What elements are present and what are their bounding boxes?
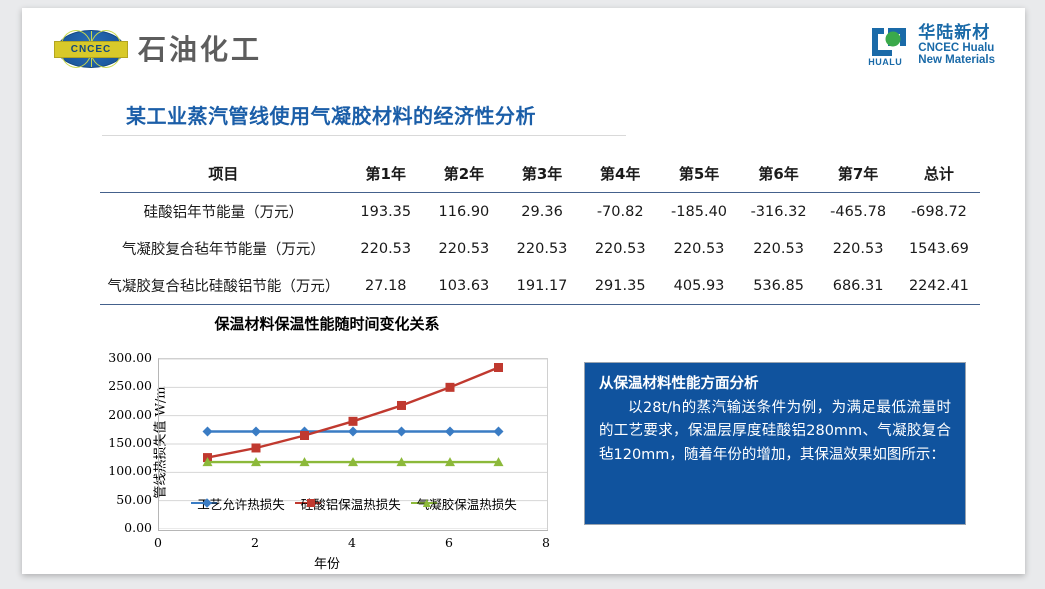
cell-2-5: 536.85	[739, 267, 819, 305]
row-label-2: 气凝胶复合毡比硅酸铝节能（万元）	[100, 267, 347, 305]
chart-legend: 工艺允许热损失硅酸铝保温热损失气凝胶保温热损失	[164, 491, 544, 515]
table-col-header-1: 第1年	[347, 154, 425, 193]
table-col-header-4: 第4年	[581, 154, 659, 193]
analysis-callout: 从保温材料性能方面分析 以28t/h的蒸汽输送条件为例，为满足最低流量时的工艺要…	[584, 362, 966, 525]
legend-label: 硅酸铝保温热损失	[301, 494, 401, 513]
cell-0-1: 116.90	[425, 193, 503, 231]
y-tick-label: 150.00	[92, 435, 152, 450]
table-col-header-8: 总计	[898, 154, 980, 193]
cell-0-0: 193.35	[347, 193, 425, 231]
table-col-header-6: 第6年	[739, 154, 819, 193]
table-col-header-5: 第5年	[659, 154, 739, 193]
legend-item: 硅酸铝保温热损失	[295, 494, 401, 513]
row-label-0: 硅酸铝年节能量（万元）	[100, 193, 347, 231]
x-tick-label: 8	[526, 535, 566, 550]
x-tick-label: 0	[138, 535, 178, 550]
cell-1-7: 1543.69	[898, 230, 980, 267]
row-label-1: 气凝胶复合毡年节能量（万元）	[100, 230, 347, 267]
legend-label: 气凝胶保温热损失	[417, 494, 517, 513]
cell-1-3: 220.53	[581, 230, 659, 267]
cncec-company-name: 石油化工	[138, 28, 262, 68]
cell-2-4: 405.93	[659, 267, 739, 305]
header-left-logo: CNCEC 石油化工	[54, 28, 262, 68]
legend-item: 工艺允许热损失	[191, 494, 285, 513]
table-row: 气凝胶复合毡比硅酸铝节能（万元） 27.18 103.63 191.17 291…	[100, 267, 980, 305]
hualu-text-block: 华陆新材 CNCEC Hualu New Materials	[918, 24, 995, 66]
title-divider	[102, 135, 626, 136]
y-tick-label: 0.00	[92, 520, 152, 535]
cell-0-7: -698.72	[898, 193, 980, 231]
table-row: 硅酸铝年节能量（万元） 193.35 116.90 29.36 -70.82 -…	[100, 193, 980, 231]
page-title: 某工业蒸汽管线使用气凝胶材料的经济性分析	[126, 100, 536, 129]
table-col-header-2: 第2年	[425, 154, 503, 193]
legend-item: 气凝胶保温热损失	[411, 494, 517, 513]
x-tick-label: 4	[332, 535, 372, 550]
cell-2-2: 191.17	[503, 267, 581, 305]
cell-2-0: 27.18	[347, 267, 425, 305]
table-col-header-0: 项目	[100, 154, 347, 193]
hualu-name-en-1: CNCEC Hualu	[918, 42, 995, 54]
cncec-globe-icon: CNCEC	[54, 29, 126, 67]
slide-canvas: CNCEC 石油化工 HUALU 华陆新材 CNCEC Hualu New Ma…	[22, 8, 1025, 574]
cell-0-6: -465.78	[818, 193, 898, 231]
chart-title: 保温材料保温性能随时间变化关系	[92, 313, 562, 334]
hualu-name-cn: 华陆新材	[918, 24, 995, 42]
x-tick-label: 6	[429, 535, 469, 550]
cell-1-0: 220.53	[347, 230, 425, 267]
y-tick-label: 200.00	[92, 407, 152, 422]
cell-1-1: 220.53	[425, 230, 503, 267]
table-row: 气凝胶复合毡年节能量（万元） 220.53 220.53 220.53 220.…	[100, 230, 980, 267]
cell-0-5: -316.32	[739, 193, 819, 231]
cell-2-6: 686.31	[818, 267, 898, 305]
y-tick-label: 250.00	[92, 378, 152, 393]
y-tick-label: 50.00	[92, 492, 152, 507]
cell-0-2: 29.36	[503, 193, 581, 231]
cell-0-3: -70.82	[581, 193, 659, 231]
chart-x-axis-label: 年份	[92, 553, 562, 572]
cell-1-4: 220.53	[659, 230, 739, 267]
cell-1-6: 220.53	[818, 230, 898, 267]
line-chart: 保温材料保温性能随时间变化关系 管线热损失值 W/m 0.0050.00100.…	[92, 313, 562, 553]
cell-2-3: 291.35	[581, 267, 659, 305]
legend-marker-square-icon	[307, 499, 315, 507]
cell-1-5: 220.53	[739, 230, 819, 267]
header-right-logo: HUALU 华陆新材 CNCEC Hualu New Materials	[868, 24, 995, 66]
y-tick-label: 300.00	[92, 350, 152, 365]
hualu-wordmark: HUALU	[868, 57, 902, 67]
chart-x-axis-line	[158, 530, 548, 531]
cell-0-4: -185.40	[659, 193, 739, 231]
callout-heading: 从保温材料性能方面分析	[599, 372, 951, 393]
x-tick-label: 2	[235, 535, 275, 550]
cncec-mark-text: CNCEC	[71, 44, 112, 55]
callout-body: 以28t/h的蒸汽输送条件为例，为满足最低流量时的工艺要求，保温层厚度硅酸铝28…	[599, 397, 951, 467]
economics-table: 项目 第1年 第2年 第3年 第4年 第5年 第6年 第7年 总计 硅酸铝年节能…	[100, 154, 980, 305]
table-col-header-7: 第7年	[818, 154, 898, 193]
chart-x-ticks: 02468	[92, 535, 562, 553]
cell-2-7: 2242.41	[898, 267, 980, 305]
table-header-row: 项目 第1年 第2年 第3年 第4年 第5年 第6年 第7年 总计	[100, 154, 980, 193]
table-col-header-3: 第3年	[503, 154, 581, 193]
hualu-name-en-2: New Materials	[918, 54, 995, 66]
cell-1-2: 220.53	[503, 230, 581, 267]
cell-2-1: 103.63	[425, 267, 503, 305]
hualu-emblem-icon: HUALU	[868, 24, 910, 66]
y-tick-label: 100.00	[92, 463, 152, 478]
